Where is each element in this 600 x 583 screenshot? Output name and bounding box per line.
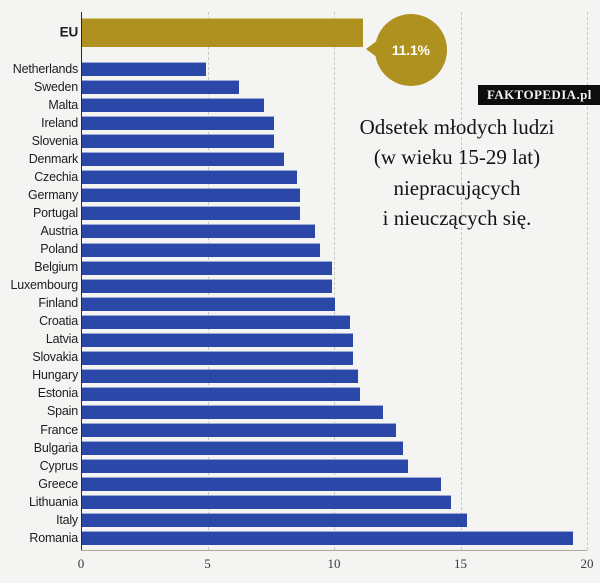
category-label: Luxembourg	[0, 279, 78, 292]
chart-title-line: Odsetek młodych ludzi	[322, 112, 592, 142]
category-label: Austria	[0, 225, 78, 238]
eu-value-callout-label: 11.1%	[392, 42, 430, 58]
category-label: Croatia	[0, 315, 78, 328]
bar	[82, 152, 284, 166]
bar	[82, 206, 300, 220]
bar-row: Romania	[0, 531, 600, 544]
x-tick-label: 15	[454, 556, 467, 572]
category-label: Sweden	[0, 80, 78, 93]
bar	[82, 351, 353, 365]
bar	[82, 333, 353, 347]
bar-row: Hungary	[0, 369, 600, 382]
bar	[82, 369, 358, 383]
bar	[82, 513, 467, 527]
bar-row: Luxembourg	[0, 279, 600, 292]
category-label: Lithuania	[0, 495, 78, 508]
category-label: Bulgaria	[0, 441, 78, 454]
bar-row-eu: EU	[0, 18, 600, 46]
bar-row: Belgium	[0, 261, 600, 274]
bar-row: Italy	[0, 513, 600, 526]
bar	[82, 441, 403, 455]
category-label: Estonia	[0, 387, 78, 400]
bar	[82, 459, 408, 473]
category-label: Hungary	[0, 369, 78, 382]
bar-row: Greece	[0, 477, 600, 490]
x-tick-label: 5	[204, 556, 211, 572]
x-tick-label: 20	[581, 556, 594, 572]
bar-row: Finland	[0, 297, 600, 310]
bar	[82, 224, 315, 238]
category-label: Slovenia	[0, 134, 78, 147]
bar	[82, 243, 320, 257]
bar-row: Cyprus	[0, 459, 600, 472]
category-label: Slovakia	[0, 351, 78, 364]
bar	[82, 279, 332, 293]
bar	[82, 531, 573, 545]
bar-row: Croatia	[0, 315, 600, 328]
x-tick-label: 0	[78, 556, 85, 572]
x-tick-label: 10	[328, 556, 341, 572]
bar	[82, 315, 350, 329]
category-label: Portugal	[0, 207, 78, 220]
infographic-root: EUNetherlandsSwedenMaltaIrelandSloveniaD…	[0, 0, 600, 583]
category-label: Spain	[0, 405, 78, 418]
category-label: Romania	[0, 532, 78, 545]
category-label: Greece	[0, 477, 78, 490]
chart-title-line: niepracujących	[322, 173, 592, 203]
bar-row: Latvia	[0, 333, 600, 346]
chart-title-line: (w wieku 15-29 lat)	[322, 142, 592, 172]
bar-row: Lithuania	[0, 495, 600, 508]
eu-value-callout: 11.1%	[375, 14, 447, 86]
bar-row: Estonia	[0, 387, 600, 400]
bar	[82, 495, 451, 509]
category-label: Malta	[0, 98, 78, 111]
category-label: Germany	[0, 189, 78, 202]
category-label: Denmark	[0, 153, 78, 166]
faktopedia-watermark: FAKTOPEDIA.pl	[478, 85, 600, 105]
bar	[82, 405, 383, 419]
category-label: Cyprus	[0, 459, 78, 472]
bar	[82, 261, 332, 275]
x-axis-tick-labels: 05101520	[0, 556, 600, 580]
chart-title-line: i nieuczących się.	[322, 203, 592, 233]
bar	[82, 188, 300, 202]
category-label: Finland	[0, 297, 78, 310]
bar-row: France	[0, 423, 600, 436]
bar-eu	[82, 18, 363, 47]
bar	[82, 423, 396, 437]
bar	[82, 80, 239, 94]
bar-row: Bulgaria	[0, 441, 600, 454]
bar	[82, 98, 264, 112]
bar-row: Netherlands	[0, 62, 600, 75]
bar	[82, 62, 206, 76]
category-label: Belgium	[0, 261, 78, 274]
bar	[82, 134, 274, 148]
bar	[82, 477, 441, 491]
category-label: Latvia	[0, 333, 78, 346]
category-label: Ireland	[0, 116, 78, 129]
chart-title: Odsetek młodych ludzi(w wieku 15-29 lat)…	[322, 112, 592, 234]
bar	[82, 297, 335, 311]
bar	[82, 387, 360, 401]
bar	[82, 170, 297, 184]
category-label: Italy	[0, 514, 78, 527]
category-label: EU	[0, 25, 78, 39]
category-label: France	[0, 423, 78, 436]
bar	[82, 116, 274, 130]
category-label: Czechia	[0, 171, 78, 184]
category-label: Netherlands	[0, 62, 78, 75]
bar-row: Poland	[0, 243, 600, 256]
category-label: Poland	[0, 243, 78, 256]
bar-row: Spain	[0, 405, 600, 418]
bar-row: Slovakia	[0, 351, 600, 364]
